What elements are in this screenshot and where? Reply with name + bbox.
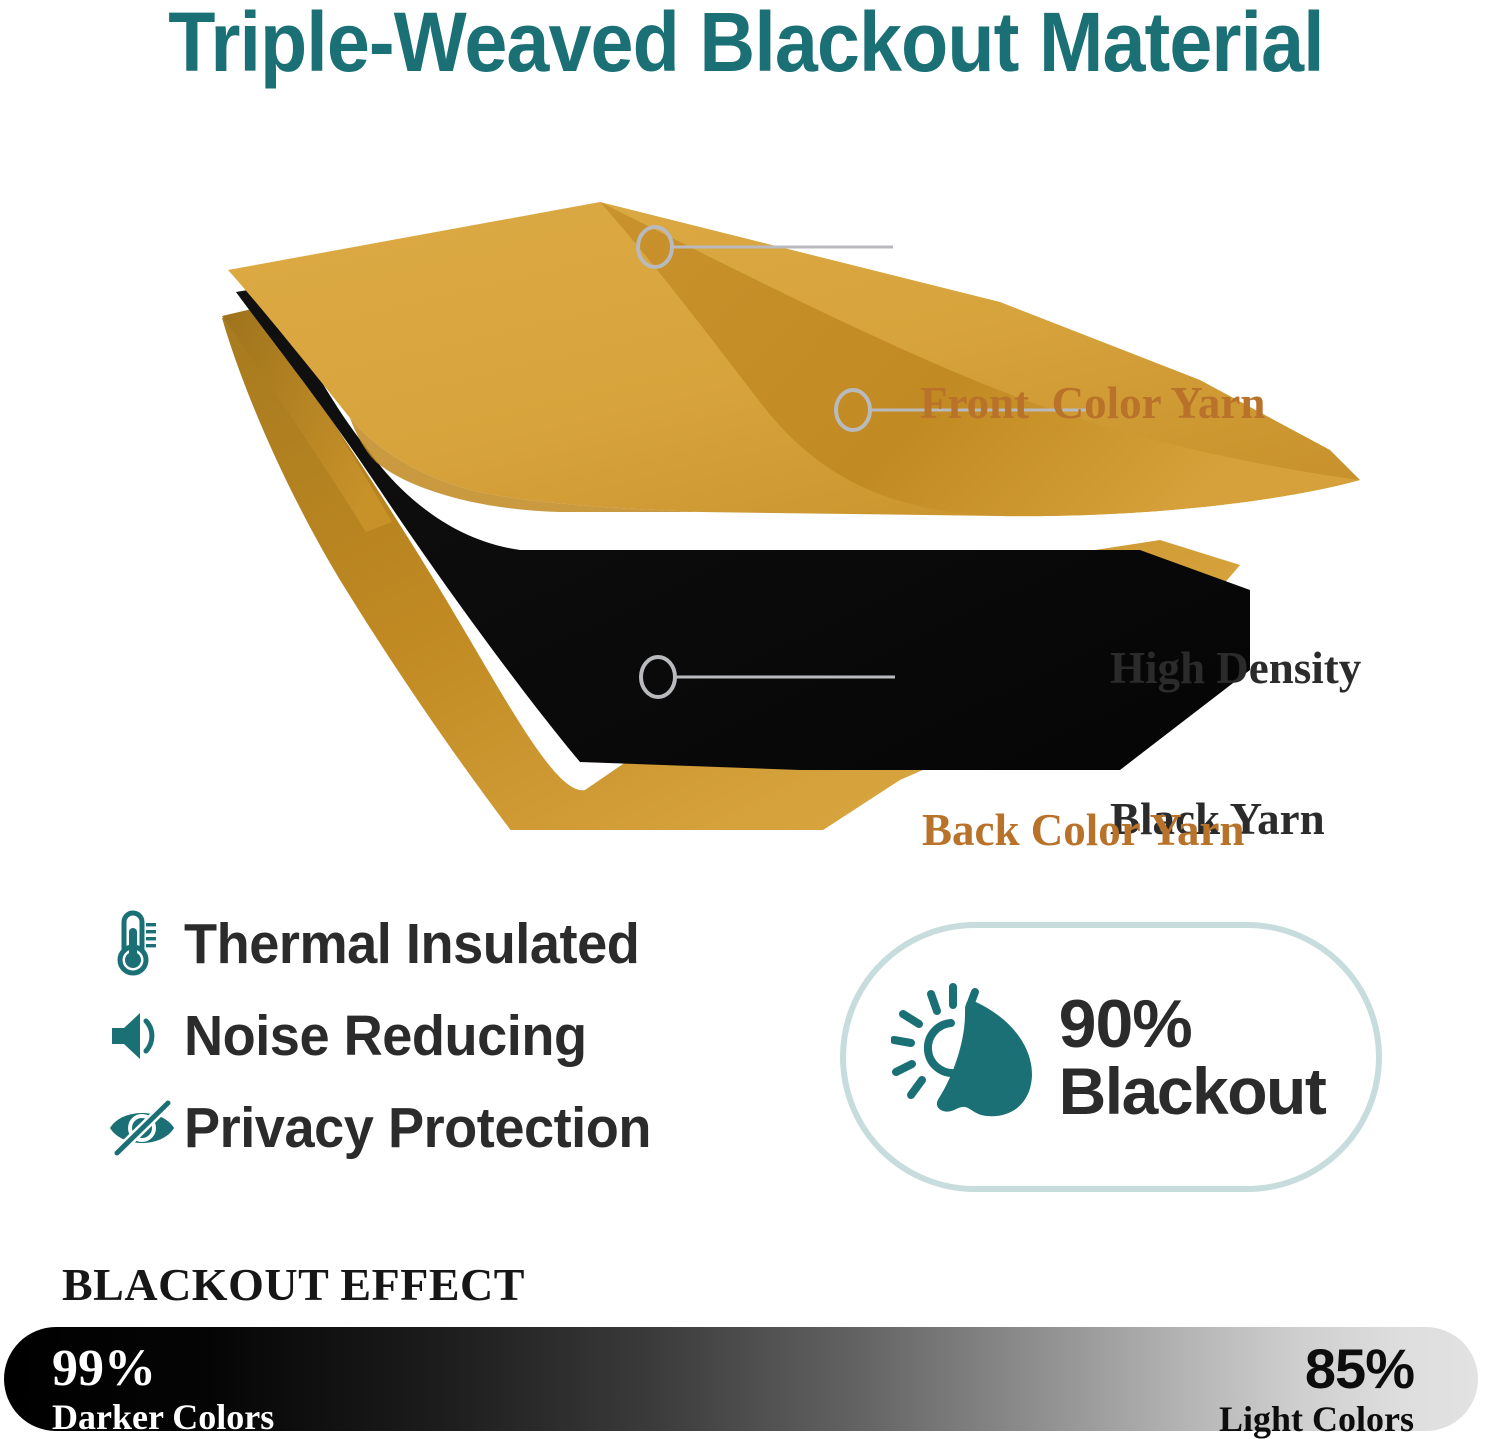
callout-label-middle: High Density Black Yarn	[1110, 542, 1361, 945]
layered-fabric-diagram: Front Color Yarn High Density Black Yarn…	[0, 150, 1492, 830]
thermometer-icon	[106, 908, 184, 980]
feature-label-noise: Noise Reducing	[184, 1003, 587, 1069]
eye-slash-icon	[106, 1100, 184, 1156]
effect-left-block: 99% Darker Colors	[52, 1343, 274, 1435]
feature-item-privacy: Privacy Protection	[106, 1082, 806, 1174]
blackout-effect-heading: BLACKOUT EFFECT	[62, 1258, 525, 1311]
blackout-badge-text: 90% Blackout	[1059, 990, 1326, 1124]
speaker-icon	[106, 1005, 184, 1067]
feature-label-thermal: Thermal Insulated	[184, 911, 639, 977]
callout-label-back: Back Color Yarn	[922, 805, 1245, 855]
blackout-badge: 90% Blackout	[840, 922, 1382, 1192]
blackout-percent: 90%	[1059, 990, 1326, 1058]
effect-right-block: 85% Light Colors	[1219, 1341, 1414, 1437]
page-title: Triple-Weaved Blackout Material	[60, 0, 1433, 91]
front-color-yarn-layer	[228, 202, 1360, 516]
effect-right-label: Light Colors	[1219, 1401, 1414, 1437]
blackout-word: Blackout	[1059, 1058, 1326, 1124]
sun-blocked-icon	[891, 980, 1041, 1135]
effect-right-percent: 85%	[1219, 1341, 1414, 1397]
blackout-effect-gradient-bar: 99% Darker Colors 85% Light Colors	[4, 1327, 1478, 1431]
feature-list: Thermal Insulated Noise Reducing Privacy…	[106, 898, 806, 1174]
callout-label-middle-line1: High Density	[1110, 643, 1361, 693]
effect-left-percent: 99%	[52, 1343, 274, 1395]
effect-left-label: Darker Colors	[52, 1399, 274, 1435]
feature-item-thermal: Thermal Insulated	[106, 898, 806, 990]
feature-label-privacy: Privacy Protection	[184, 1095, 651, 1161]
feature-item-noise: Noise Reducing	[106, 990, 806, 1082]
callout-label-front: Front Color Yarn	[920, 378, 1265, 428]
